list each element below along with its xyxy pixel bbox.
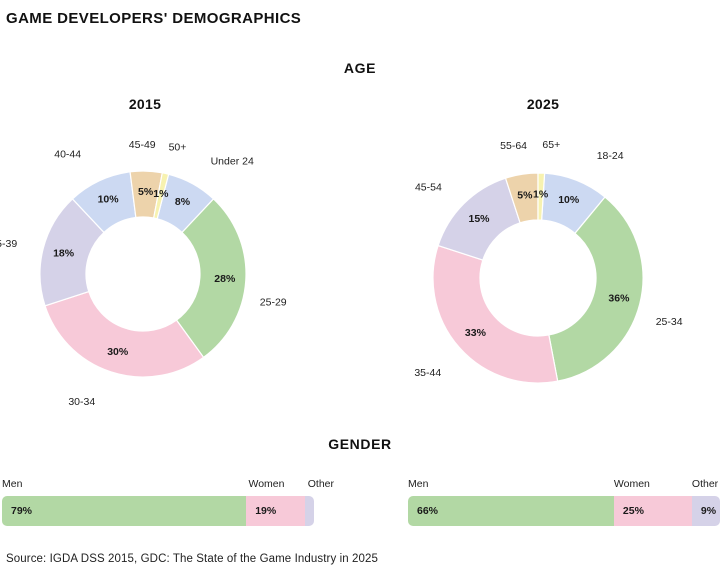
donut-slice-label: 25-29: [260, 296, 287, 308]
donut-slice-label: 55-64: [500, 140, 527, 152]
donut-slice[interactable]: [45, 292, 204, 377]
donut-slice-label: 30-34: [68, 396, 95, 408]
donut-slice-label: 35-44: [414, 367, 441, 379]
gender-bar-2025-labels: MenWomenOther: [408, 478, 720, 496]
donut-chart-2025: 10%18-2436%25-3433%35-4415%45-545%55-641…: [398, 140, 720, 402]
gender-segment[interactable]: 66%: [408, 496, 614, 526]
donut-slice[interactable]: [433, 246, 558, 383]
gender-bar-2025: MenWomenOther 66%25%9%: [408, 478, 720, 526]
section-heading-gender: GENDER: [310, 436, 410, 452]
chart-year-2025: 2025: [483, 96, 603, 112]
donut-chart-2015: 8%Under 2428%25-2930%30-3418%35-3910%40-…: [0, 140, 320, 400]
gender-segment-label: Women: [248, 478, 284, 490]
gender-segment-label: Other: [308, 478, 334, 490]
donut-slice-label: 45-49: [129, 139, 156, 151]
donut-slice-label: 18-24: [597, 150, 624, 162]
donut-slice-value: 10%: [558, 194, 580, 206]
infographic-canvas: GAME DEVELOPERS' DEMOGRAPHICS AGE 2015 2…: [0, 0, 720, 581]
gender-segment[interactable]: 2%: [305, 496, 314, 526]
donut-slice-value: 36%: [608, 293, 630, 305]
page-title: GAME DEVELOPERS' DEMOGRAPHICS: [6, 10, 301, 27]
donut-slice-label: Under 24: [211, 155, 254, 167]
donut-chart-2015-svg: 8%Under 2428%25-2930%30-3418%35-3910%40-…: [0, 140, 320, 400]
donut-slice-label: 40-44: [54, 149, 81, 161]
chart-year-2015: 2015: [85, 96, 205, 112]
donut-slice-value: 10%: [98, 194, 120, 206]
donut-slice-label: 25-34: [656, 316, 683, 328]
gender-segment[interactable]: 19%: [246, 496, 305, 526]
donut-chart-2025-svg: 10%18-2436%25-3433%35-4415%45-545%55-641…: [398, 140, 720, 402]
donut-slice-value: 18%: [53, 247, 75, 259]
gender-segment-label: Men: [408, 478, 428, 490]
donut-slice-value: 5%: [517, 189, 533, 201]
gender-bar-2015-labels: MenWomenOther: [2, 478, 314, 496]
gender-bar-2025-track: 66%25%9%: [408, 496, 720, 526]
gender-segment[interactable]: 79%: [2, 496, 246, 526]
gender-segment-label: Men: [2, 478, 22, 490]
donut-slice-value: 33%: [465, 327, 487, 339]
donut-slice-label: 50+: [169, 141, 187, 153]
donut-slice-value: 28%: [214, 273, 236, 285]
gender-bar-2015: MenWomenOther 79%19%2%: [2, 478, 314, 526]
donut-slice-label: 35-39: [0, 238, 17, 250]
donut-slice-value: 30%: [107, 346, 129, 358]
gender-segment-label: Women: [614, 478, 650, 490]
donut-slice-value: 15%: [468, 213, 490, 225]
donut-slice-label: 45-54: [415, 182, 442, 194]
source-citation: Source: IGDA DSS 2015, GDC: The State of…: [6, 553, 378, 565]
section-heading-age: AGE: [310, 60, 410, 76]
donut-slice-label: 65+: [542, 139, 560, 151]
gender-segment[interactable]: 9%: [692, 496, 720, 526]
donut-slice-value: 8%: [175, 196, 191, 208]
gender-segment-label: Other: [692, 478, 718, 490]
gender-segment[interactable]: 25%: [614, 496, 692, 526]
gender-bar-2015-track: 79%19%2%: [2, 496, 314, 526]
donut-slice-value: 1%: [153, 188, 169, 200]
donut-slice-value: 1%: [533, 188, 549, 200]
donut-slice-value: 5%: [138, 186, 154, 198]
